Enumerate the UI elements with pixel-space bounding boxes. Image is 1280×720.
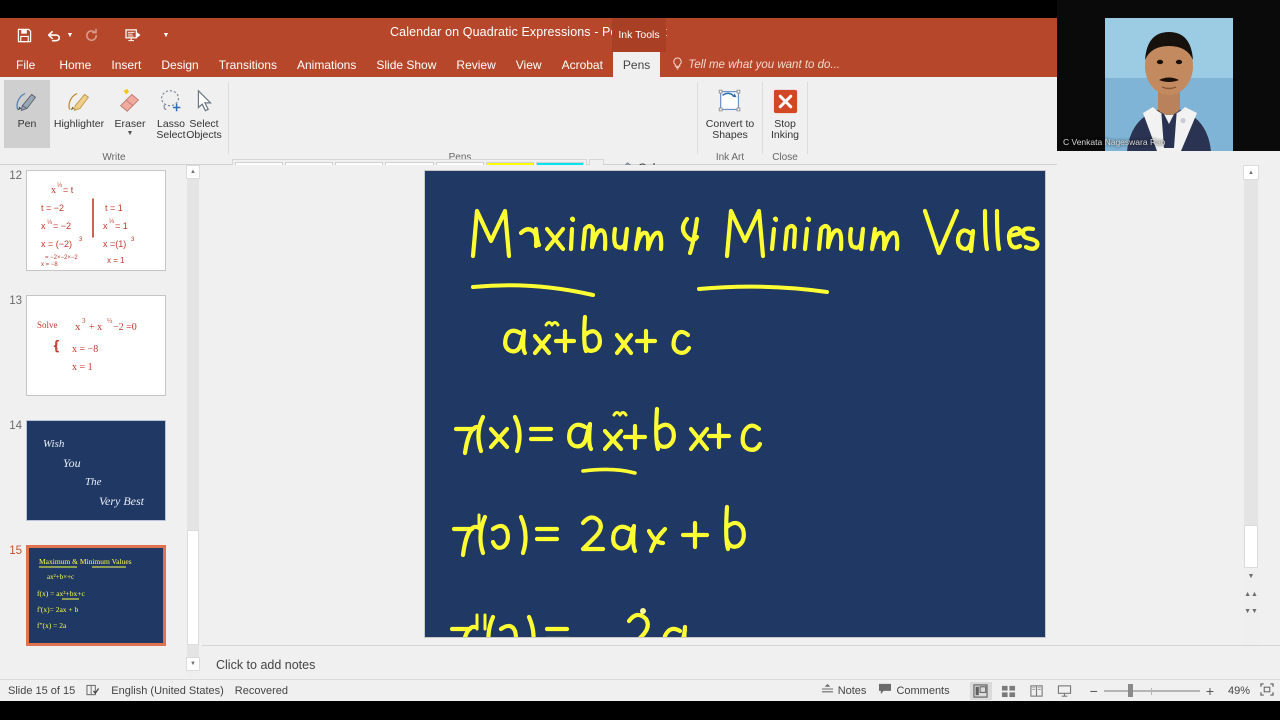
slide-thumbnail-13[interactable]: Solve x 3 + x ⅓ −2 =0 { x = −8 x = 1 [26, 295, 166, 396]
window-title: Calendar on Quadratic Expressions - Powe… [0, 25, 1057, 39]
save-state-indicator: Recovered [235, 685, 288, 697]
lasso-select-icon [157, 83, 185, 119]
thumbnail-row[interactable]: 13 Solve x 3 + x ⅓ −2 =0 { x = −8 x = [0, 295, 183, 405]
eraser-icon [115, 83, 145, 119]
svg-text:You: You [63, 456, 81, 470]
eraser-button[interactable]: Eraser ▼ [108, 80, 152, 148]
thumb14-line1: Wish [43, 438, 65, 450]
group-label-write: Write [0, 152, 228, 163]
status-left: Slide 15 of 15 English (United States) R… [0, 684, 288, 697]
svg-text:Maximum & Minimum Values: Maximum & Minimum Values [39, 557, 132, 566]
svg-text:= −2: = −2 [53, 221, 71, 231]
ribbon-group-close: Stop Inking Close [763, 77, 807, 165]
highlighter-button[interactable]: Highlighter [50, 80, 108, 148]
svg-text:ax²+b×+c: ax²+b×+c [47, 573, 74, 581]
tab-design[interactable]: Design [151, 52, 208, 77]
thumbnail-scroll-down-icon[interactable]: ▼ [186, 657, 200, 671]
stop-inking-icon [772, 83, 799, 119]
comments-button-label: Comments [896, 685, 949, 697]
ink-dot [640, 608, 646, 614]
reading-view-icon [1029, 684, 1044, 698]
pen-button-label: Pen [4, 119, 50, 130]
slide-scroll-down-icon[interactable]: ▼ [1244, 570, 1258, 583]
slide-scroll-up-icon[interactable]: ▲ [1243, 165, 1259, 180]
comments-button[interactable]: Comments [878, 683, 949, 698]
convert-to-shapes-button[interactable]: Convert to Shapes [702, 80, 758, 148]
select-objects-icon [191, 83, 217, 119]
notes-button[interactable]: Notes [821, 683, 867, 698]
notes-icon [821, 683, 834, 698]
svg-text:f'(x)= 2ax + b: f'(x)= 2ax + b [37, 605, 79, 614]
highlighter-icon [64, 83, 94, 119]
svg-text:x: x [51, 185, 56, 196]
comment-icon [878, 683, 892, 698]
svg-text:{: { [53, 339, 60, 354]
current-slide[interactable] [424, 170, 1046, 638]
thumbnail-number: 12 [4, 170, 22, 182]
thumbnail-scroll-up-icon[interactable]: ▲ [186, 165, 200, 179]
thumbnail-scroll-thumb[interactable] [187, 530, 199, 645]
ribbon-group-ink-art: Convert to Shapes Ink Art [698, 77, 762, 165]
svg-text:⅓: ⅓ [47, 220, 52, 226]
title-bar: ▼ ▼ Calendar on Quadratic Expressions - … [0, 18, 1057, 52]
spellcheck-icon[interactable] [86, 684, 100, 697]
svg-text:f(x) = ax²+bx+c: f(x) = ax²+bx+c [37, 589, 86, 598]
zoom-out-button[interactable]: − [1090, 683, 1098, 699]
notes-placeholder[interactable]: Click to add notes [216, 658, 315, 672]
slide-scrollbar[interactable]: ▲ ▼ ▲▲ ▼▼ [1243, 165, 1259, 645]
slide-scroll-thumb[interactable] [1244, 525, 1258, 568]
ribbon-tab-bar: File Home Insert Design Transitions Anim… [0, 52, 1057, 77]
group-separator [807, 82, 808, 154]
pen-icon [12, 83, 42, 119]
svg-text:The: The [85, 476, 102, 488]
svg-text:= t: = t [63, 185, 74, 195]
group-label-ink-art: Ink Art [698, 152, 762, 163]
select-objects-button-label: Select Objects [182, 119, 226, 141]
ribbon-group-write: Pen Highlighter Eraser ▼ Lasso Select [0, 77, 228, 165]
language-indicator[interactable]: English (United States) [111, 685, 224, 697]
slide-counter[interactable]: Slide 15 of 15 [8, 685, 75, 697]
ink-tools-contextual-label: Ink Tools [612, 18, 666, 52]
ribbon-group-pens: Pens [229, 77, 695, 165]
highlighter-button-label: Highlighter [50, 119, 108, 130]
status-bar: Slide 15 of 15 English (United States) R… [0, 679, 1280, 701]
zoom-slider[interactable] [1104, 684, 1200, 698]
tab-acrobat[interactable]: Acrobat [552, 52, 613, 77]
thumbnail-number: 14 [4, 420, 22, 432]
fit-to-window-icon[interactable] [1260, 683, 1274, 699]
thumbnail-number: 15 [4, 545, 22, 557]
tab-review[interactable]: Review [446, 52, 505, 77]
tab-view[interactable]: View [506, 52, 552, 77]
powerpoint-window: ▼ ▼ Calendar on Quadratic Expressions - … [0, 0, 1280, 720]
svg-text:x = −8: x = −8 [72, 344, 98, 355]
svg-text:x = −8: x = −8 [41, 262, 58, 268]
slide-thumbnail-15[interactable]: Maximum & Minimum Values ax²+b×+c f(x) =… [26, 545, 166, 646]
zoom-in-button[interactable]: + [1206, 683, 1214, 699]
svg-text:x: x [75, 321, 81, 333]
stop-inking-button[interactable]: Stop Inking [763, 80, 807, 148]
slide-thumbnail-12[interactable]: x ⅓ = t t = −2 x ⅓ = −2 x = (−2) 3 = −2×… [26, 170, 166, 271]
eraser-button-label: Eraser [108, 119, 152, 130]
slide-edit-pane[interactable] [202, 165, 1240, 645]
group-label-close: Close [763, 152, 807, 163]
tab-pens[interactable]: Pens [613, 52, 660, 77]
svg-text:⅓: ⅓ [107, 317, 112, 325]
tab-insert[interactable]: Insert [101, 52, 151, 77]
convert-to-shapes-icon [715, 83, 745, 119]
svg-text:x: x [41, 221, 46, 231]
lightbulb-icon [672, 57, 683, 73]
slide-scroll-track[interactable] [1244, 180, 1258, 525]
svg-text:Very Best: Very Best [99, 494, 145, 508]
thumbnail-row[interactable]: 12 x ⅓ = t t = −2 x ⅓ = −2 x = (−2) 3 [0, 170, 183, 280]
thumbnail-scrollbar[interactable]: ▲ ▼ [186, 165, 200, 685]
webcam-bottom-strip [1057, 151, 1280, 165]
slide-ink-content [425, 171, 1045, 637]
status-right: Notes Comments − [821, 682, 1280, 700]
notes-button-label: Notes [838, 685, 867, 697]
presenter-webcam[interactable]: C Venkata Nageswara Rao [1057, 0, 1280, 151]
eraser-dropdown-icon[interactable]: ▼ [127, 130, 134, 137]
select-objects-button[interactable]: Select Objects [182, 80, 226, 148]
slide-show-icon [1057, 684, 1072, 698]
svg-text:+ x: + x [89, 322, 102, 333]
normal-view-icon [973, 684, 988, 698]
svg-text:t = −2: t = −2 [41, 203, 64, 213]
slide-show-button[interactable] [1054, 682, 1076, 700]
svg-text:3: 3 [82, 317, 86, 325]
zoom-slider-midpoint [1151, 688, 1152, 695]
svg-text:f"(x) = 2a: f"(x) = 2a [37, 621, 67, 630]
svg-text:x = (−2): x = (−2) [41, 239, 72, 249]
zoom-slider-knob[interactable] [1128, 684, 1133, 697]
convert-to-shapes-label: Convert to Shapes [702, 119, 758, 141]
svg-text:3: 3 [131, 237, 135, 243]
tab-home[interactable]: Home [49, 52, 101, 77]
thumbnail-row[interactable]: 15 Maximum & Minimum Values ax²+b×+c f(x… [0, 545, 183, 655]
svg-text:3: 3 [79, 237, 83, 243]
thumbnail-row[interactable]: 14 Wish You The Very Best [0, 420, 183, 530]
previous-slide-button[interactable]: ▲▲ [1244, 588, 1258, 601]
svg-text:Solve: Solve [37, 320, 58, 330]
pen-button[interactable]: Pen [4, 80, 50, 148]
zoom-level[interactable]: 49% [1220, 685, 1250, 697]
stop-inking-label: Stop Inking [763, 119, 807, 141]
next-slide-button[interactable]: ▼▼ [1244, 605, 1258, 618]
svg-text:x: x [103, 221, 108, 231]
svg-text:⅓: ⅓ [57, 183, 62, 189]
normal-view-button[interactable] [970, 682, 992, 700]
work-area: 12 x ⅓ = t t = −2 x ⅓ = −2 x = (−2) 3 [0, 165, 1280, 685]
svg-text:x = 1: x = 1 [107, 256, 125, 265]
slide-sorter-icon [1001, 684, 1016, 698]
svg-text:= −2×−2×−2: = −2×−2×−2 [45, 255, 78, 261]
slide-thumbnail-pane[interactable]: 12 x ⅓ = t t = −2 x ⅓ = −2 x = (−2) 3 [0, 165, 183, 685]
bottom-black-border [0, 701, 1280, 720]
svg-text:x =(1): x =(1) [103, 239, 126, 249]
tab-transitions[interactable]: Transitions [209, 52, 287, 77]
presenter-name: C Venkata Nageswara Rao [1063, 137, 1166, 147]
ribbon: Pen Highlighter Eraser ▼ Lasso Select [0, 77, 1057, 165]
reading-view-button[interactable] [1026, 682, 1048, 700]
tell-me-placeholder: Tell me what you want to do... [688, 59, 840, 71]
slide-thumbnail-14[interactable]: Wish You The Very Best [26, 420, 166, 521]
svg-text:x = 1: x = 1 [72, 362, 93, 373]
svg-text:−2 =0: −2 =0 [113, 322, 137, 333]
svg-text:⅓: ⅓ [109, 219, 114, 225]
tab-slide-show[interactable]: Slide Show [366, 52, 446, 77]
tell-me-box[interactable]: Tell me what you want to do... [660, 52, 840, 77]
zoom-slider-track [1104, 690, 1200, 692]
tab-file[interactable]: File [0, 52, 49, 77]
tab-animations[interactable]: Animations [287, 52, 366, 77]
slide-sorter-button[interactable] [998, 682, 1020, 700]
thumbnail-number: 13 [4, 295, 22, 307]
svg-text:t = 1: t = 1 [105, 203, 123, 213]
svg-text:= 1: = 1 [115, 221, 128, 231]
